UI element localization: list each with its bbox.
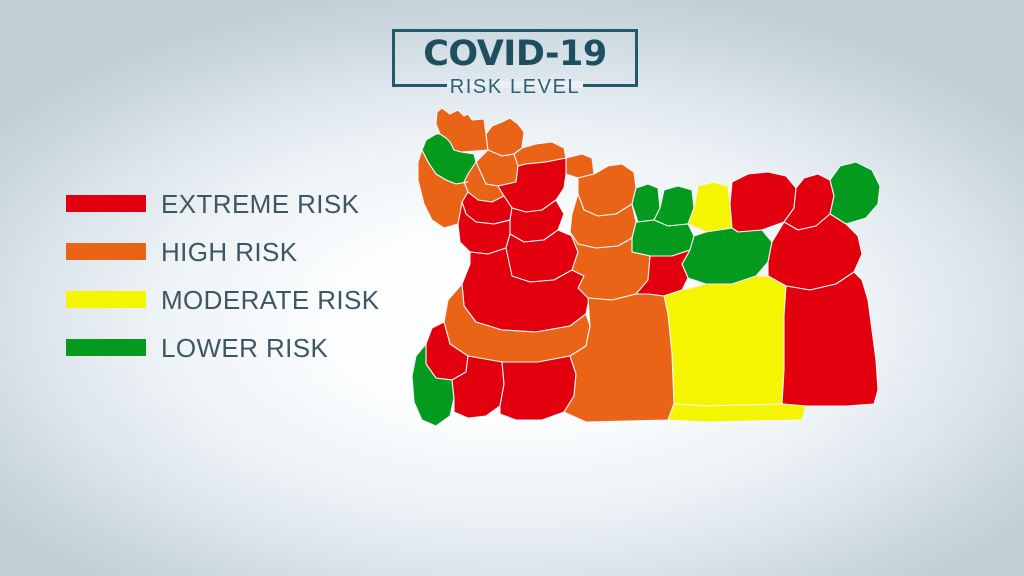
legend-swatch-high — [66, 243, 146, 260]
title-card: COVID-19 RISK LEVEL — [392, 29, 638, 87]
page-title: COVID-19 — [392, 35, 638, 73]
legend-label-extreme: EXTREME RISK — [161, 186, 359, 222]
county-morrow[interactable] — [688, 182, 732, 232]
legend-label-high: HIGH RISK — [161, 234, 298, 270]
graphic-stage: COVID-19 RISK LEVEL EXTREME RISK HIGH RI… — [0, 0, 1024, 576]
county-wheeler[interactable] — [632, 220, 694, 256]
legend-swatch-lower — [66, 339, 146, 356]
county-harney[interactable] — [664, 276, 786, 406]
legend-swatch-moderate — [66, 291, 146, 308]
page-subtitle: RISK LEVEL — [392, 76, 638, 98]
county-gilliam[interactable] — [654, 186, 694, 226]
legend-label-lower: LOWER RISK — [161, 330, 328, 366]
legend-label-moderate: MODERATE RISK — [161, 282, 380, 318]
legend-swatch-extreme — [66, 195, 146, 212]
oregon-risk-map — [406, 104, 906, 440]
county-hood-river[interactable] — [566, 154, 594, 178]
county-malheur[interactable] — [782, 272, 878, 406]
county-lake[interactable] — [668, 404, 806, 422]
county-wallowa[interactable] — [830, 162, 880, 224]
oregon-map-svg — [406, 104, 906, 440]
